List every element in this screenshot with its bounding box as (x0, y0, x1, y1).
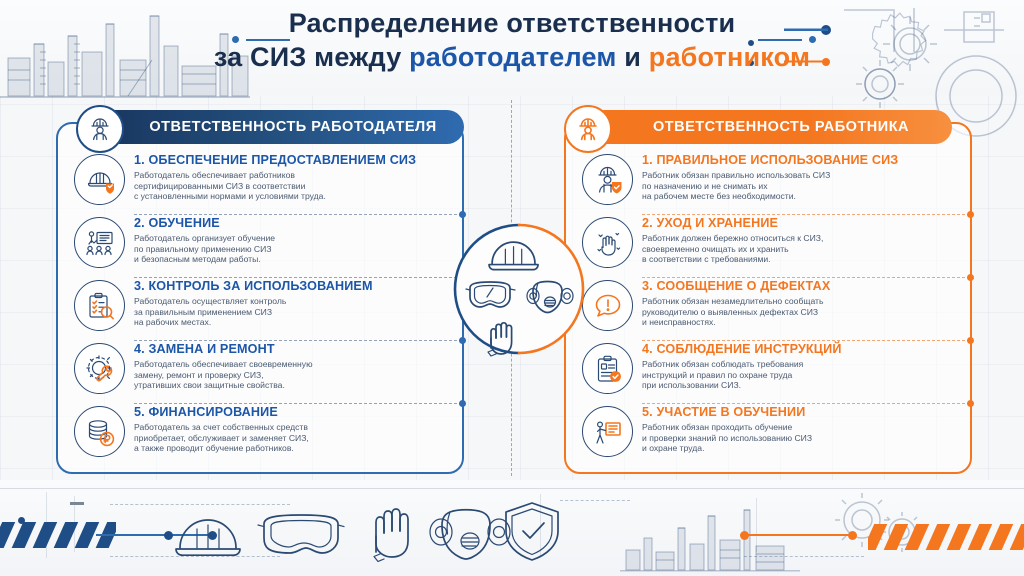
title-line-1: Распределение ответственности (0, 6, 1024, 40)
list-item[interactable]: 3. КОНТРОЛЬ ЗА ИСПОЛЬЗОВАНИЕМ Работодате… (74, 278, 464, 341)
gear-wrench-icon (74, 343, 125, 394)
item-body: Работник обязан проходить обучение и про… (642, 422, 972, 454)
title-line-2-part-a: за СИЗ между (214, 42, 409, 72)
item-title: 5. УЧАСТИЕ В ОБУЧЕНИИ (642, 405, 972, 420)
item-title: 5. ФИНАНСИРОВАНИЕ (134, 405, 464, 420)
clipboard-magnifier-icon (74, 280, 125, 331)
shield-check-icon (500, 500, 564, 562)
item-title: 3. СООБЩЕНИЕ О ДЕФЕКТАХ (642, 279, 972, 294)
item-title: 4. ЗАМЕНА И РЕМОНТ (134, 342, 464, 357)
title-line-2-part-c: и (617, 42, 649, 72)
item-title: 1. ПРАВИЛЬНОЕ ИСПОЛЬЗОВАНИЕ СИЗ (642, 153, 972, 168)
employer-panel-header: ОТВЕТСТВЕННОСТЬ РАБОТОДАТЕЛЯ (96, 110, 464, 144)
item-body: Работодатель обеспечивает работников сер… (134, 170, 464, 202)
gears-bottom-right (830, 494, 940, 554)
worker-panel-header: ОТВЕТСТВЕННОСТЬ РАБОТНИКА (584, 110, 952, 144)
item-body: Работодатель обеспечивает своевременную … (134, 359, 464, 391)
item-title: 1. ОБЕСПЕЧЕНИЕ ПРЕДОСТАВЛЕНИЕМ СИЗ (134, 153, 464, 168)
list-item[interactable]: 5. УЧАСТИЕ В ОБУЧЕНИИ Работник обязан пр… (582, 404, 972, 467)
item-body: Работник должен бережно относиться к СИЗ… (642, 233, 972, 265)
list-item[interactable]: 4. СОБЛЮДЕНИЕ ИНСТРУКЦИЙ Работник обязан… (582, 341, 972, 404)
hazard-stripes-orange (868, 524, 1024, 550)
list-item[interactable]: 2. УХОД И ХРАНЕНИЕ Работник должен береж… (582, 215, 972, 278)
ppe-equipment-circle (452, 222, 586, 356)
item-body: Работодатель за счет собственных средств… (134, 422, 464, 454)
list-item[interactable]: 2. ОБУЧЕНИЕ Работодатель организует обуч… (74, 215, 464, 278)
item-title: 4. СОБЛЮДЕНИЕ ИНСТРУКЦИЙ (642, 342, 972, 357)
page-title: Распределение ответственности за СИЗ меж… (0, 6, 1024, 74)
list-item[interactable]: 5. ФИНАНСИРОВАНИЕ Работодатель за счет с… (74, 404, 464, 467)
item-title: 2. ОБУЧЕНИЕ (134, 216, 464, 231)
clipboard-check-icon (582, 343, 633, 394)
worker-helmet-icon (76, 105, 124, 153)
item-body: Работник обязан незамедлительно сообщать… (642, 296, 972, 328)
list-item[interactable]: 3. СООБЩЕНИЕ О ДЕФЕКТАХ Работник обязан … (582, 278, 972, 341)
factory-silhouette (620, 502, 800, 572)
employer-panel-header-label: ОТВЕТСТВЕННОСТЬ РАБОТОДАТЕЛЯ (123, 119, 436, 135)
item-body: Работник обязан соблюдать требования инс… (642, 359, 972, 391)
item-body: Работодатель организует обучение по прав… (134, 233, 464, 265)
safety-gloves-icon (364, 504, 426, 562)
cleaning-hand-icon (582, 217, 633, 268)
list-item[interactable]: 1. ПРАВИЛЬНОЕ ИСПОЛЬЗОВАНИЕ СИЗ Работник… (582, 152, 972, 215)
title-highlight-employer: работодателем (409, 42, 616, 72)
title-line-2: за СИЗ между работодателем и работником (0, 40, 1024, 74)
item-title: 3. КОНТРОЛЬ ЗА ИСПОЛЬЗОВАНИЕМ (134, 279, 464, 294)
item-body: Работник обязан правильно использовать С… (642, 170, 972, 202)
infographic-root: Распределение ответственности за СИЗ меж… (0, 0, 1024, 576)
worker-panel-header-label: ОТВЕТСТВЕННОСТЬ РАБОТНИКА (627, 119, 909, 135)
presenter-board-icon (582, 406, 633, 457)
worker-helmet-icon-right (564, 105, 612, 153)
employer-items-list: 1. ОБЕСПЕЧЕНИЕ ПРЕДОСТАВЛЕНИЕМ СИЗ Работ… (74, 152, 464, 467)
title-highlight-worker: работником (649, 42, 810, 72)
hardhat-icon (168, 504, 248, 562)
speech-bubble-alert-icon (582, 280, 633, 331)
worker-items-list: 1. ПРАВИЛЬНОЕ ИСПОЛЬЗОВАНИЕ СИЗ Работник… (582, 152, 972, 467)
item-body: Работодатель осуществляет контроль за пр… (134, 296, 464, 328)
hardhat-shield-icon (74, 154, 125, 205)
safety-goggles-icon (258, 508, 344, 560)
hazard-stripes-blue (0, 522, 116, 548)
coins-ruble-icon (74, 406, 125, 457)
list-item[interactable]: 1. ОБЕСПЕЧЕНИЕ ПРЕДОСТАВЛЕНИЕМ СИЗ Работ… (74, 152, 464, 215)
list-item[interactable]: 4. ЗАМЕНА И РЕМОНТ Работодатель обеспечи… (74, 341, 464, 404)
item-title: 2. УХОД И ХРАНЕНИЕ (642, 216, 972, 231)
worker-shield-icon (582, 154, 633, 205)
training-board-icon (74, 217, 125, 268)
